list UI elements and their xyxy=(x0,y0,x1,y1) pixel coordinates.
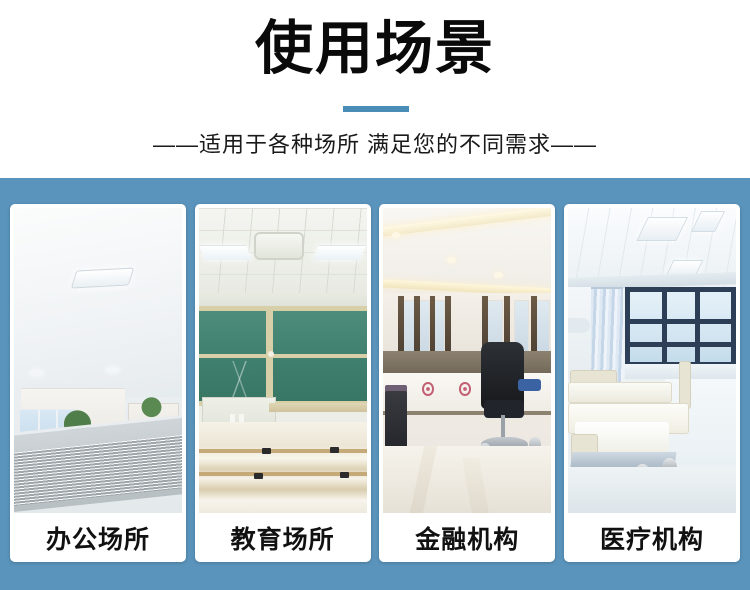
title-divider xyxy=(343,106,409,112)
chalkboard-knob xyxy=(268,351,274,357)
hospital-window xyxy=(625,287,736,366)
panel-light-icon xyxy=(71,268,135,289)
chalk-rail xyxy=(269,403,366,412)
scenario-label-medical: 医疗机构 xyxy=(568,513,736,562)
downlight-icon xyxy=(105,367,120,373)
office-ceiling xyxy=(14,208,182,397)
wall-shelf xyxy=(568,318,590,333)
hospital-floor xyxy=(568,467,736,513)
header-section: 使用场景 ——适用于各种场所 满足您的不同需求—— xyxy=(0,0,750,178)
scenario-card-education[interactable]: 教育场所 xyxy=(195,204,371,562)
scenario-label-office: 办公场所 xyxy=(14,513,182,562)
chalkboard-divider xyxy=(199,354,367,358)
air-conditioner-icon xyxy=(254,232,304,259)
fluorescent-tube-icon xyxy=(313,245,366,260)
office-photo xyxy=(14,208,182,513)
hospital-photo xyxy=(568,208,736,513)
chalk-writing xyxy=(222,361,259,398)
student-desks xyxy=(199,422,367,514)
louver-texture xyxy=(14,434,182,506)
page-subtitle: ——适用于各种场所 满足您的不同需求—— xyxy=(0,130,750,160)
scenario-label-finance: 金融机构 xyxy=(383,513,551,562)
fluorescent-tube-icon xyxy=(199,245,252,260)
usage-scenarios-page: 使用场景 ——适用于各种场所 满足您的不同需求—— xyxy=(0,0,750,590)
scenario-card-medical[interactable]: 医疗机构 xyxy=(564,204,740,562)
hospital-bed xyxy=(568,382,672,403)
downlight-icon xyxy=(494,272,502,278)
downlight-icon xyxy=(447,257,455,263)
office-plant-icon xyxy=(138,391,165,418)
scenario-card-list: 办公场所 xyxy=(10,204,740,562)
chair-armrest xyxy=(518,379,542,391)
downlight-icon xyxy=(29,370,44,376)
scenario-card-finance[interactable]: 金融机构 xyxy=(379,204,555,562)
page-title: 使用场景 xyxy=(0,14,750,84)
bed-rail xyxy=(679,361,691,410)
classroom-photo xyxy=(199,208,367,513)
bank-photo xyxy=(383,208,551,513)
scenario-card-office[interactable]: 办公场所 xyxy=(10,204,186,562)
hospital-wall xyxy=(568,287,593,379)
scenario-label-education: 教育场所 xyxy=(199,513,367,562)
